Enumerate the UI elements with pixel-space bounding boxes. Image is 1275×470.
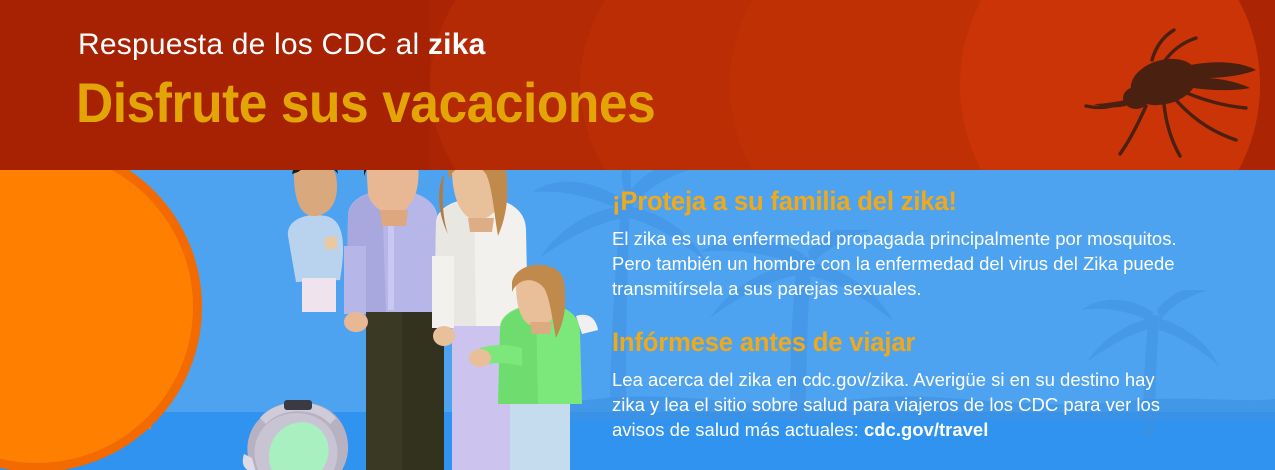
section-2-line-2: zika y lea el sitio sobre salud para via… bbox=[612, 392, 1262, 417]
text-panel: ¡Proteja a su familia del zika! El zika … bbox=[612, 186, 1262, 442]
eyebrow-prefix: Respuesta de los CDC al bbox=[78, 28, 428, 61]
banner-headline: Disfrute sus vacaciones bbox=[76, 70, 655, 135]
zika-vacation-banner: Respuesta de los CDC al zika Disfrute su… bbox=[0, 0, 1275, 470]
section-2-body: Lea acerca del zika en cdc.gov/zika. Ave… bbox=[612, 367, 1262, 442]
eyebrow-keyword: zika bbox=[428, 28, 486, 61]
section-2-line-3: avisos de salud más actuales: cdc.gov/tr… bbox=[612, 417, 1262, 442]
section-2-line-3-text: avisos de salud más actuales: bbox=[612, 419, 864, 440]
section-1-body: El zika es una enfermedad propagada prin… bbox=[612, 226, 1262, 301]
father-figure bbox=[344, 170, 444, 470]
travel-link[interactable]: cdc.gov/travel bbox=[864, 419, 988, 440]
section-2-line-1: Lea acerca del zika en cdc.gov/zika. Ave… bbox=[612, 367, 1262, 392]
banner-eyebrow: Respuesta de los CDC al zika bbox=[78, 28, 485, 62]
section-1-line-3: transmitírsela a sus parejas sexuales. bbox=[612, 276, 1262, 301]
section-1-line-1: El zika es una enfermedad propagada prin… bbox=[612, 226, 1262, 251]
baby-figure bbox=[288, 170, 343, 312]
section-1-heading: ¡Proteja a su familia del zika! bbox=[612, 186, 1230, 217]
banner-header: Respuesta de los CDC al zika Disfrute su… bbox=[0, 0, 1275, 170]
section-2-heading: Infórmese antes de viajar bbox=[612, 327, 1230, 358]
section-1-line-2: Pero también un hombre con la enfermedad… bbox=[612, 251, 1262, 276]
mosquito-icon bbox=[1060, 20, 1260, 160]
infant-car-seat bbox=[238, 392, 356, 470]
